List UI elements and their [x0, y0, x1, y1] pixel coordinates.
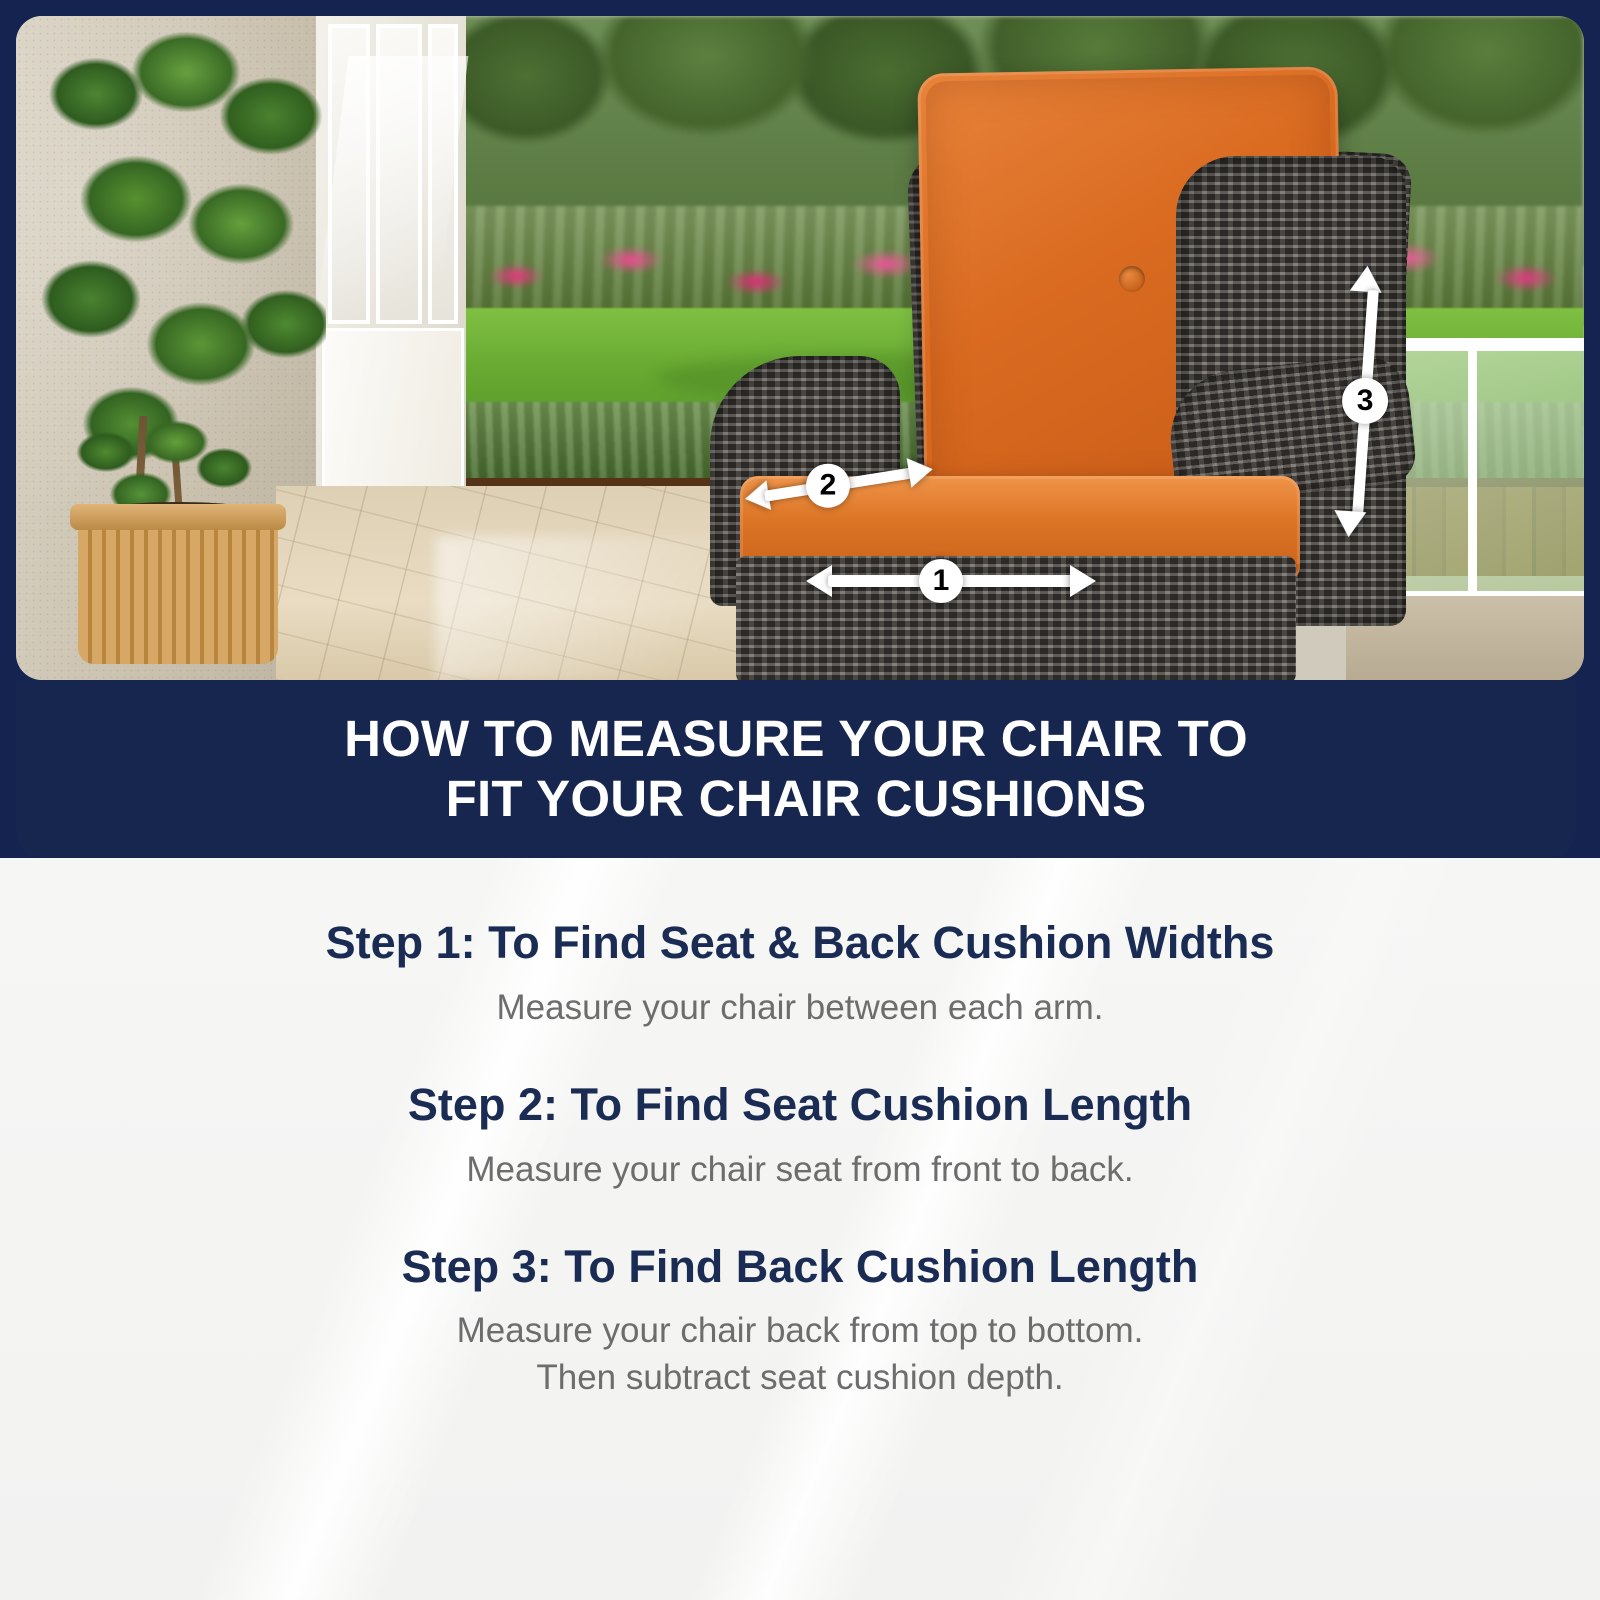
photo-scene: 1 2 3 [16, 16, 1584, 680]
step-2-title: Step 2: To Find Seat Cushion Length [0, 1078, 1600, 1133]
step-3-desc-line-2: Then subtract seat cushion depth. [0, 1355, 1600, 1402]
step-1-title: Step 1: To Find Seat & Back Cushion Widt… [0, 916, 1600, 971]
arrow-down-head-icon [1333, 510, 1367, 538]
railing-mullion [1468, 346, 1477, 596]
hero-photo: 1 2 3 [16, 16, 1584, 680]
window-pane [428, 24, 458, 324]
step-3-title: Step 3: To Find Back Cushion Length [0, 1240, 1600, 1295]
step-3-desc-line-1: Measure your chair back from top to bott… [0, 1308, 1600, 1355]
window-pane [328, 24, 370, 324]
steps-section: Step 1: To Find Seat & Back Cushion Widt… [0, 858, 1600, 1600]
rattan-planter-pot [78, 516, 278, 664]
step-item-1: Step 1: To Find Seat & Back Cushion Widt… [0, 916, 1600, 1032]
banner-title-line-2: FIT YOUR CHAIR CUSHIONS [446, 769, 1147, 829]
banner-title-line-1: HOW TO MEASURE YOUR CHAIR TO [344, 709, 1248, 769]
step-2-desc-line-1: Measure your chair seat from front to ba… [0, 1147, 1600, 1194]
step-item-3: Step 3: To Find Back Cushion Length Meas… [0, 1240, 1600, 1403]
arrow-up-head-icon [1350, 265, 1384, 293]
step-2-description: Measure your chair seat from front to ba… [0, 1147, 1600, 1194]
measure-badge-3: 3 [1342, 378, 1388, 424]
step-1-description: Measure your chair between each arm. [0, 985, 1600, 1032]
window-pane [376, 24, 422, 324]
step-item-2: Step 2: To Find Seat Cushion Length Meas… [0, 1078, 1600, 1194]
infographic-page: 1 2 3 HOW TO MEASURE YOUR CHAIR TO FIT Y… [0, 0, 1600, 1600]
measure-arrow-1: 1 [806, 561, 1096, 601]
measure-badge-1: 1 [919, 559, 963, 603]
step-3-description: Measure your chair back from top to bott… [0, 1308, 1600, 1402]
title-banner: HOW TO MEASURE YOUR CHAIR TO FIT YOUR CH… [16, 680, 1576, 858]
measure-badge-2: 2 [806, 464, 850, 508]
arrow-right-head-icon [1070, 565, 1096, 597]
cushion-button-tuft [1119, 266, 1145, 292]
step-1-desc-line-1: Measure your chair between each arm. [0, 985, 1600, 1032]
steps-list: Step 1: To Find Seat & Back Cushion Widt… [0, 858, 1600, 1448]
arrow-right-head-icon [907, 454, 935, 487]
